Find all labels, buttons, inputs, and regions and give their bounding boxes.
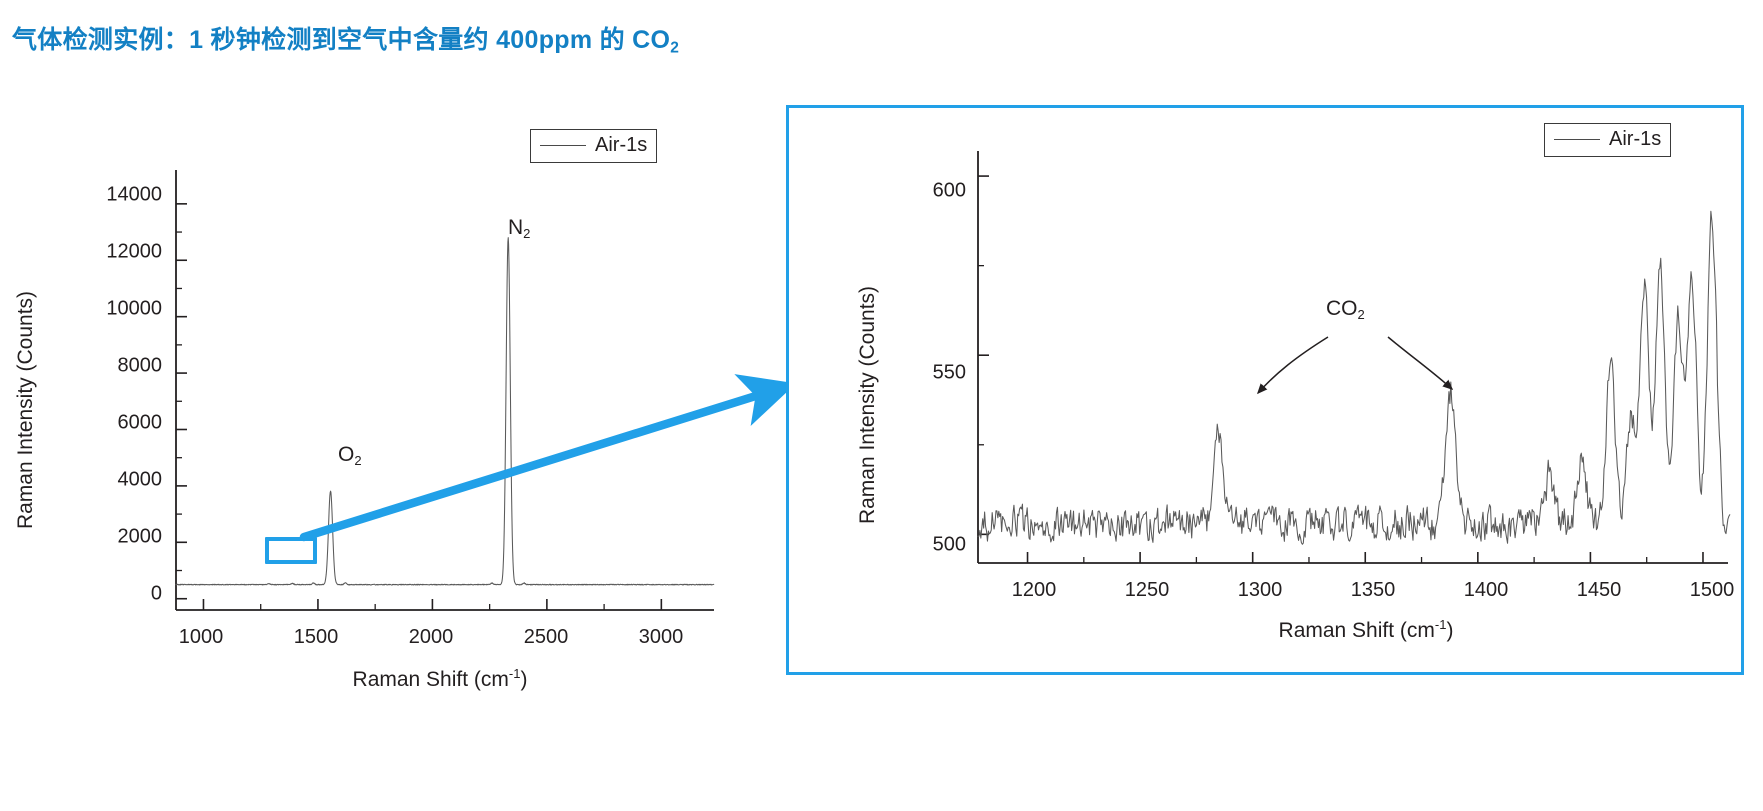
overview-x-tick: 2500 — [524, 626, 569, 649]
overview-x-tick: 1500 — [294, 626, 339, 649]
legend-label: Air-1s — [595, 134, 647, 157]
inset-x-tick: 1300 — [1238, 579, 1283, 602]
inset-spectrum-trace — [978, 211, 1730, 544]
overview-spectrum-trace — [176, 238, 714, 585]
n2-peak-label: N2 — [508, 216, 530, 241]
inset-y-axis-title: Raman Intensity (Counts) — [856, 286, 880, 524]
inset-x-tick: 1350 — [1351, 579, 1396, 602]
inset-tick-marks — [978, 176, 1703, 563]
inset-x-tick: 1450 — [1577, 579, 1622, 602]
co2-arrow-right — [1388, 337, 1452, 389]
inset-y-tick: 500 — [894, 534, 966, 557]
overview-chart: Raman Intensity (Counts) 14000 12000 100… — [60, 110, 720, 730]
page-title-text: 气体检测实例：1 秒钟检测到空气中含量约 400ppm 的 CO — [12, 26, 670, 54]
overview-legend[interactable]: Air-1s — [530, 129, 657, 163]
inset-y-tick: 600 — [894, 180, 966, 203]
overview-x-tick: 3000 — [639, 626, 684, 649]
legend-line-swatch — [1554, 139, 1600, 140]
inset-legend[interactable]: Air-1s — [1544, 123, 1671, 157]
overview-y-tick: 4000 — [70, 469, 162, 492]
overview-plot-area — [174, 110, 720, 650]
co2-annotation-arrows — [1258, 337, 1452, 393]
overview-x-axis-title: Raman Shift (cm-1) — [353, 666, 528, 692]
inset-x-tick: 1250 — [1125, 579, 1170, 602]
inset-x-axis-title: Raman Shift (cm-1) — [1279, 617, 1454, 643]
o2-peak-label: O2 — [338, 443, 362, 468]
overview-y-axis-title: Raman Intensity (Counts) — [14, 291, 38, 529]
overview-x-tick: 2000 — [409, 626, 454, 649]
overview-y-tick: 0 — [70, 583, 162, 606]
inset-plot-area — [976, 105, 1736, 605]
inset-x-tick: 1500 — [1690, 579, 1735, 602]
overview-y-tick: 2000 — [70, 526, 162, 549]
overview-tick-marks — [176, 204, 661, 610]
legend-line-swatch — [540, 145, 586, 146]
inset-y-tick: 550 — [894, 362, 966, 385]
inset-x-tick: 1400 — [1464, 579, 1509, 602]
page-title: 气体检测实例：1 秒钟检测到空气中含量约 400ppm 的 CO2 — [12, 20, 679, 57]
overview-y-tick: 10000 — [70, 298, 162, 321]
overview-y-tick: 8000 — [70, 355, 162, 378]
slide-canvas: 气体检测实例：1 秒钟检测到空气中含量约 400ppm 的 CO2 Raman … — [0, 0, 1763, 811]
overview-y-tick: 14000 — [70, 184, 162, 207]
inset-chart: Raman Intensity (Counts) 600 550 500 CO2 — [786, 105, 1744, 675]
overview-y-tick: 6000 — [70, 412, 162, 435]
co2-label: CO2 — [1326, 297, 1365, 322]
overview-y-tick: 12000 — [70, 241, 162, 264]
co2-arrow-left — [1258, 337, 1328, 393]
overview-x-tick: 1000 — [179, 626, 224, 649]
legend-label: Air-1s — [1609, 128, 1661, 151]
page-title-subscript: 2 — [670, 39, 679, 56]
inset-x-tick: 1200 — [1012, 579, 1057, 602]
zoom-region-highlight[interactable] — [265, 537, 317, 564]
